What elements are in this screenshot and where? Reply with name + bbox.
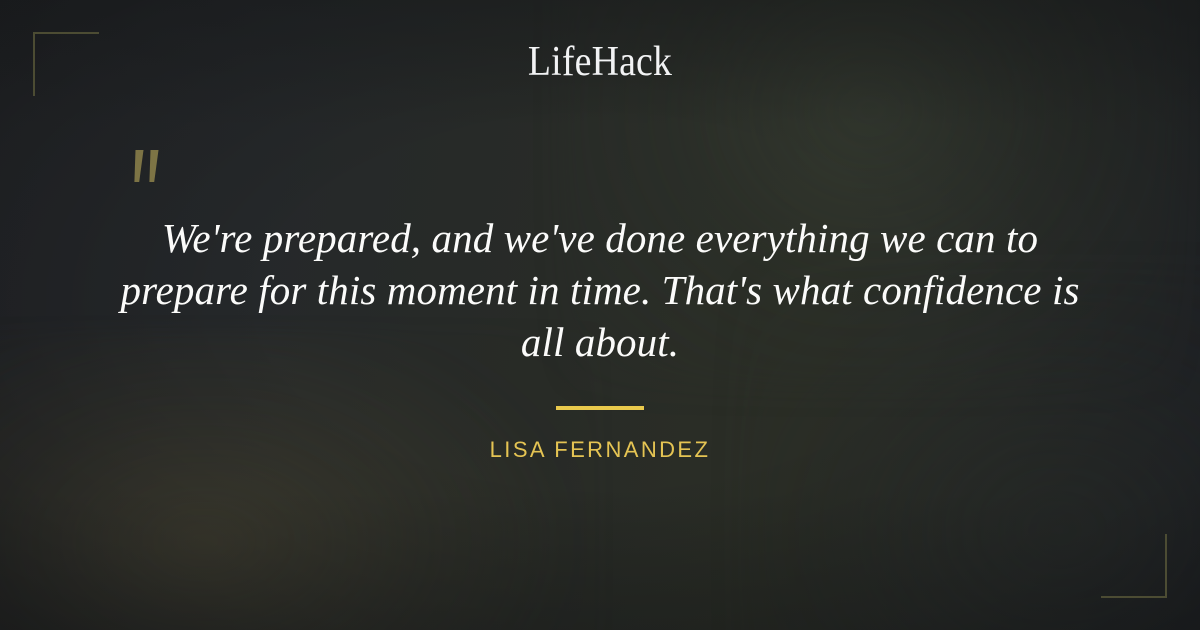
divider	[0, 406, 1200, 410]
quote-author: LISA FERNANDEZ	[0, 437, 1200, 463]
brand-logo: LifeHack	[60, 40, 1140, 84]
quote-mark-icon	[128, 148, 176, 192]
divider-rule	[556, 406, 644, 410]
corner-bracket-bottom-right-icon	[1101, 534, 1167, 598]
quote-text: We're prepared, and we've done everythin…	[100, 212, 1100, 368]
quote-card: LifeHack We're prepared, and we've done …	[0, 0, 1200, 630]
